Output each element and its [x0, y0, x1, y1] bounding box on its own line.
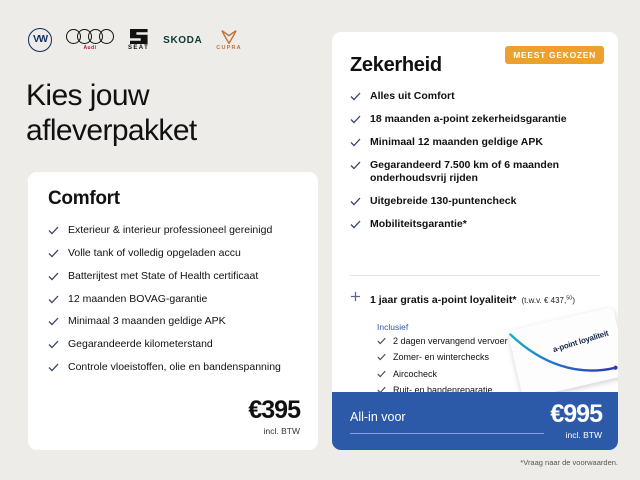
check-icon — [350, 161, 361, 170]
price-note: incl. BTW — [550, 430, 602, 440]
bonus-sub-text: 2 dagen vervangend vervoer — [393, 336, 508, 347]
cupra-tribal-icon — [220, 30, 238, 44]
feature-text: Exterieur & interieur professioneel gere… — [68, 224, 272, 238]
price-note: incl. BTW — [248, 426, 300, 436]
price-footer-zekerheid: All-in voor €995 incl. BTW — [332, 392, 618, 450]
bonus-value-suffix: ) — [572, 296, 575, 305]
cupra-wordmark: CUPRA — [216, 45, 242, 51]
cupra-logo: CUPRA — [216, 30, 242, 51]
package-card-comfort: Comfort Exterieur & interieur profession… — [28, 172, 318, 450]
list-item: Mobiliteitsgarantie* — [350, 218, 600, 232]
plus-icon — [350, 291, 361, 302]
disclaimer-text: *Vraag naar de voorwaarden. — [520, 458, 618, 467]
list-item: Volle tank of volledig opgeladen accu — [48, 247, 300, 261]
check-icon — [350, 220, 361, 229]
check-icon — [350, 115, 361, 124]
check-icon — [48, 340, 59, 349]
feature-text: 12 maanden BOVAG-garantie — [68, 293, 207, 307]
price-block-zekerheid: €995 incl. BTW — [550, 402, 602, 440]
list-item: Batterijtest met State of Health certifi… — [48, 270, 300, 284]
feature-list-comfort: Exterieur & interieur professioneel gere… — [48, 224, 300, 384]
volkswagen-logo: VW — [28, 28, 52, 52]
feature-text: Alles uit Comfort — [370, 90, 455, 104]
bonus-row: 1 jaar gratis a-point loyaliteit*(t.w.v.… — [350, 290, 606, 308]
skoda-wordmark: SKODA — [163, 35, 202, 46]
feature-text: Uitgebreide 130-puntencheck — [370, 195, 516, 209]
feature-text: Gegarandeerde kilometerstand — [68, 338, 213, 352]
brand-logo-strip: VW Audi SEAT SKODA CUPRA — [28, 26, 242, 54]
list-item: 18 maanden a-point zekerheidsgarantie — [350, 113, 600, 127]
check-icon — [48, 363, 59, 372]
bonus-value: (t.w.v. € 437,50) — [521, 296, 575, 305]
footer-rule — [350, 433, 544, 434]
check-icon — [350, 197, 361, 206]
bonus-sub-text: Aircocheck — [393, 369, 437, 380]
package-title-comfort: Comfort — [48, 188, 120, 210]
package-card-zekerheid: MEEST GEKOZEN Zekerheid Alles uit Comfor… — [332, 32, 618, 450]
list-item: Minimaal 3 maanden geldige APK — [48, 315, 300, 329]
audi-wordmark: Audi — [83, 45, 96, 51]
check-icon — [350, 138, 361, 147]
check-icon — [48, 295, 59, 304]
feature-text: Minimaal 12 maanden geldige APK — [370, 136, 543, 150]
check-icon — [377, 370, 386, 378]
feature-text: 18 maanden a-point zekerheidsgarantie — [370, 113, 567, 127]
list-item: 12 maanden BOVAG-garantie — [48, 293, 300, 307]
check-icon — [48, 249, 59, 258]
feature-text: Gegarandeerd 7.500 km of 6 maanden onder… — [370, 159, 600, 187]
bonus-value-prefix: (t.w.v. € 437, — [521, 296, 566, 305]
feature-text: Controle vloeistoffen, olie en bandenspa… — [68, 361, 281, 375]
feature-list-zekerheid: Alles uit Comfort 18 maanden a-point zek… — [350, 90, 600, 241]
feature-text: Volle tank of volledig opgeladen accu — [68, 247, 241, 261]
vw-icon: VW — [28, 28, 52, 52]
footer-label: All-in voor — [350, 410, 406, 424]
check-icon — [377, 337, 386, 345]
list-item: Alles uit Comfort — [350, 90, 600, 104]
section-divider — [350, 275, 600, 276]
seat-logo: SEAT — [128, 29, 149, 51]
seat-wordmark: SEAT — [128, 45, 149, 51]
seat-s-icon — [130, 29, 148, 44]
list-item: Exterieur & interieur professioneel gere… — [48, 224, 300, 238]
check-icon — [48, 226, 59, 235]
list-item: Gegarandeerde kilometerstand — [48, 338, 300, 352]
price-amount: €995 — [550, 402, 602, 427]
audi-rings-icon — [66, 29, 114, 44]
page-title: Kies jouw afleverpakket — [26, 78, 306, 149]
price-block-comfort: €395 incl. BTW — [248, 398, 300, 436]
loyalty-card-graphic: a-point loyaliteit — [508, 307, 618, 400]
package-title-zekerheid: Zekerheid — [350, 54, 442, 77]
bonus-sub-text: Zomer- en winterchecks — [393, 352, 489, 363]
list-item: Gegarandeerd 7.500 km of 6 maanden onder… — [350, 159, 600, 187]
status-badge: MEEST GEKOZEN — [505, 46, 604, 64]
check-icon — [48, 272, 59, 281]
check-icon — [350, 92, 361, 101]
bonus-sub-header: Inclusief — [377, 322, 408, 332]
bonus-label: 1 jaar gratis a-point loyaliteit* — [370, 294, 516, 306]
feature-text: Batterijtest met State of Health certifi… — [68, 270, 258, 284]
check-icon — [377, 353, 386, 361]
feature-text: Minimaal 3 maanden geldige APK — [68, 315, 226, 329]
list-item: Controle vloeistoffen, olie en bandenspa… — [48, 361, 300, 375]
list-item: Minimaal 12 maanden geldige APK — [350, 136, 600, 150]
price-amount: €395 — [248, 398, 300, 423]
list-item: Uitgebreide 130-puntencheck — [350, 195, 600, 209]
loyalty-card-arc — [508, 307, 618, 400]
feature-text: Mobiliteitsgarantie* — [370, 218, 467, 232]
poster-canvas: VW Audi SEAT SKODA CUPRA Kies jouw aflev… — [0, 0, 640, 480]
audi-logo: Audi — [66, 29, 114, 51]
check-icon — [48, 317, 59, 326]
skoda-logo: SKODA — [163, 35, 202, 46]
